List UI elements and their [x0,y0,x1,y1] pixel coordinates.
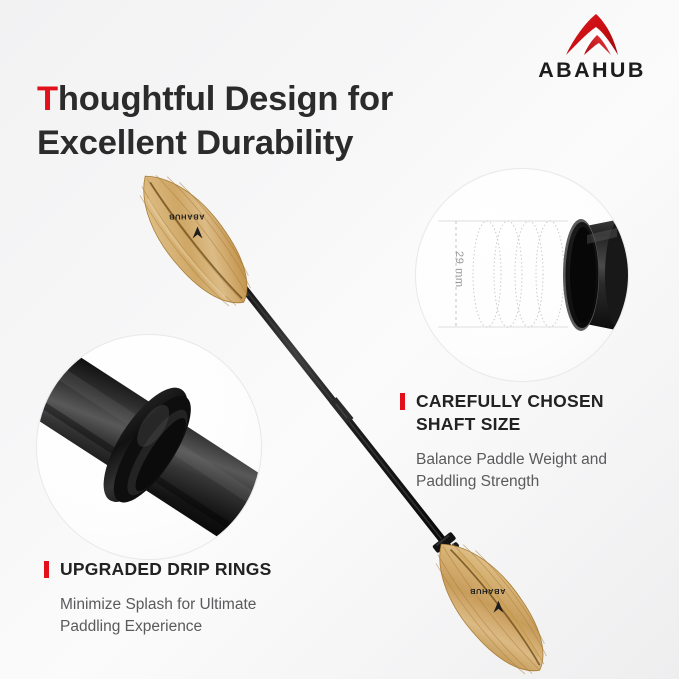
callout-subtitle-line1: Minimize Splash for Ultimate [60,596,256,613]
callout-drip-rings-subtitle: Minimize Splash for Ultimate Paddling Ex… [60,594,334,638]
accent-bar-icon [400,393,405,410]
blade-wood-grain [131,162,265,315]
callout-title-line2: SHAFT SIZE [416,414,521,434]
paddle-ferrule [333,400,350,421]
callout-drip-rings-heading: UPGRADED DRIP RINGS [44,558,334,581]
headline-line1: houghtful Design for [58,80,393,118]
headline-line2: Excellent Durability [37,124,353,162]
callout-title-line1: CAREFULLY CHOSEN [416,391,604,411]
shaft-size-inset: 29 mm [415,168,629,382]
brand-name: ABAHUB [527,60,657,82]
shaft-ellipse [494,221,522,327]
callout-subtitle-line1: Balance Paddle Weight and [416,451,607,468]
blade-surface [122,158,267,320]
abahub-swoosh-logo-icon [556,12,628,58]
blade-spine [148,182,242,301]
shaft-tube-3d [563,219,628,331]
shaft-ellipse [536,221,564,327]
shaft-ellipse [473,221,501,327]
shaft-ellipse-group [473,221,564,327]
callout-shaft-size-title: CAREFULLY CHOSEN SHAFT SIZE [416,390,604,436]
blade-brand-mark: ABAHUB [469,587,505,613]
shaft-diameter-diagram [416,169,628,381]
accent-bar-icon [44,561,49,578]
shaft-ellipse [515,221,543,327]
product-infographic: ABAHUB Thoughtful Design for Excellent D… [0,0,679,679]
blade-spine [450,547,544,665]
paddle-blade-top: ABAHUB [122,158,267,320]
svg-text:ABAHUB: ABAHUB [469,587,505,596]
callout-shaft-size-subtitle: Balance Paddle Weight and Paddling Stren… [416,449,662,493]
callout-subtitle-line2: Paddling Strength [416,473,539,490]
callout-drip-rings: UPGRADED DRIP RINGS Minimize Splash for … [44,558,334,638]
brand-logo: ABAHUB [527,12,657,82]
blade-brand-mark: ABAHUB [168,213,204,239]
callout-drip-rings-title: UPGRADED DRIP RINGS [60,558,272,581]
blade-surface [418,526,563,679]
drip-ring-photo-group [37,335,261,559]
page-title: Thoughtful Design for Excellent Durabili… [37,77,507,165]
blade-wood-grain [427,530,561,679]
dimension-label: 29 mm [453,251,465,288]
svg-text:ABAHUB: ABAHUB [168,213,204,222]
callout-shaft-size-heading: CAREFULLY CHOSEN SHAFT SIZE [400,390,662,436]
callout-shaft-size: CAREFULLY CHOSEN SHAFT SIZE Balance Padd… [400,390,662,493]
drip-ring-inset [36,334,262,560]
paddle-blade-bottom: ABAHUB [418,526,563,679]
headline-drop-cap: T [37,80,58,118]
drip-ring-top [217,259,246,287]
drip-ring-bottom [432,532,461,560]
callout-subtitle-line2: Paddling Experience [60,618,202,635]
drip-ring-closeup [37,335,261,559]
